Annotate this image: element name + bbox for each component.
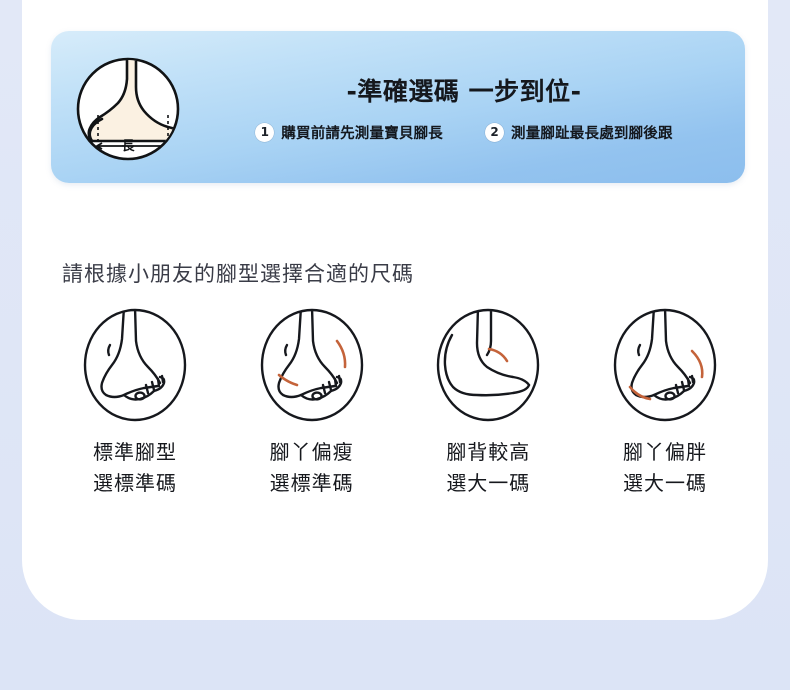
foot-type-advice: 選標準碼	[93, 468, 177, 499]
foot-type-item: 腳背較高 選大一碼	[408, 305, 568, 499]
page-root: 長 -準確選碼 一步到位- 1 購買前請先測量寶貝腳長 2 測量腳趾最長處到腳後…	[0, 0, 790, 690]
step-text: 購買前請先測量寶貝腳長	[281, 122, 443, 143]
step-number-badge: 2	[485, 123, 504, 142]
foot-type-item: 腳丫偏胖 選大一碼	[585, 305, 745, 499]
size-guide-banner: 長 -準確選碼 一步到位- 1 購買前請先測量寶貝腳長 2 測量腳趾最長處到腳後…	[51, 31, 745, 183]
foot-wide-icon	[606, 305, 724, 425]
foot-type-advice: 選標準碼	[270, 468, 354, 499]
foot-side-measure-icon: 長	[76, 57, 180, 161]
measure-step-2: 2 測量腳趾最長處到腳後跟	[485, 122, 673, 143]
foot-type-item: 標準腳型 選標準碼	[55, 305, 215, 499]
foot-type-advice: 選大一碼	[623, 468, 707, 499]
foot-type-label: 腳丫偏瘦 選標準碼	[270, 437, 354, 499]
banner-title: -準確選碼 一步到位-	[347, 72, 582, 108]
foot-high-instep-icon	[429, 305, 547, 425]
foot-type-advice: 選大一碼	[446, 468, 530, 499]
foot-standard-icon	[76, 305, 194, 425]
foot-type-name: 標準腳型	[93, 437, 177, 468]
foot-type-item: 腳丫偏瘦 選標準碼	[232, 305, 392, 499]
foot-type-name: 腳背較高	[446, 437, 530, 468]
step-text: 測量腳趾最長處到腳後跟	[511, 122, 673, 143]
foot-type-label: 腳丫偏胖 選大一碼	[623, 437, 707, 499]
banner-text-block: -準確選碼 一步到位- 1 購買前請先測量寶貝腳長 2 測量腳趾最長處到腳後跟	[201, 31, 727, 183]
foot-type-label: 標準腳型 選標準碼	[93, 437, 177, 499]
foot-narrow-icon	[253, 305, 371, 425]
section-heading: 請根據小朋友的腳型選擇合適的尺碼	[62, 258, 414, 288]
foot-type-row: 標準腳型 選標準碼	[55, 305, 745, 499]
measure-length-label: 長	[121, 139, 135, 154]
step-number-badge: 1	[255, 123, 274, 142]
measure-step-1: 1 購買前請先測量寶貝腳長	[255, 122, 443, 143]
foot-type-name: 腳丫偏胖	[623, 437, 707, 468]
measure-steps: 1 購買前請先測量寶貝腳長 2 測量腳趾最長處到腳後跟	[255, 122, 672, 143]
foot-type-name: 腳丫偏瘦	[270, 437, 354, 468]
foot-type-label: 腳背較高 選大一碼	[446, 437, 530, 499]
